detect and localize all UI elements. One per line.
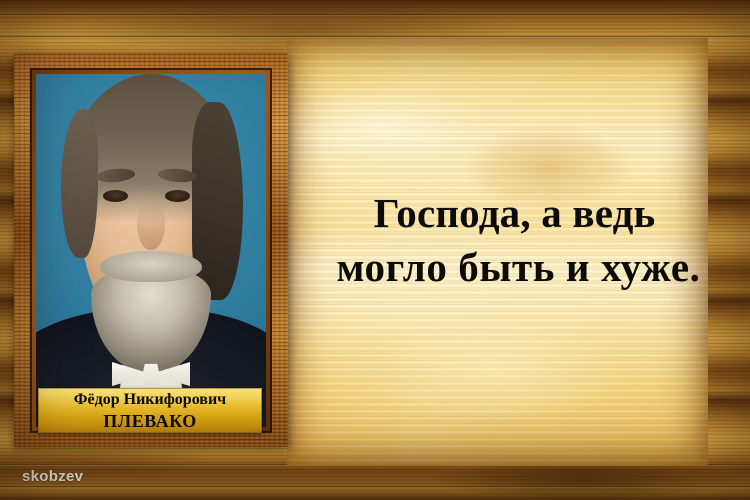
nameplate-first-line: Фёдор Никифорович [74, 392, 226, 408]
nameplate: Фёдор Никифорович ПЛЕВАКО [38, 388, 262, 433]
quote-card: Господа, а ведь могло быть и хуже. [0, 0, 750, 500]
portrait-hair-left [61, 109, 98, 257]
portrait-mustache [100, 251, 201, 283]
quote-text: Господа, а ведь могло быть и хуже. [287, 186, 750, 294]
portrait-frame-inner [30, 68, 272, 433]
quote-line-2: могло быть и хуже. [287, 240, 750, 294]
portrait-illustration [36, 74, 266, 427]
watermark: skobzev [22, 468, 83, 485]
portrait-nose [137, 201, 165, 250]
quote-line-1: Господа, а ведь [287, 186, 750, 240]
nameplate-second-line: ПЛЕВАКО [103, 412, 196, 430]
portrait-image [36, 74, 266, 427]
